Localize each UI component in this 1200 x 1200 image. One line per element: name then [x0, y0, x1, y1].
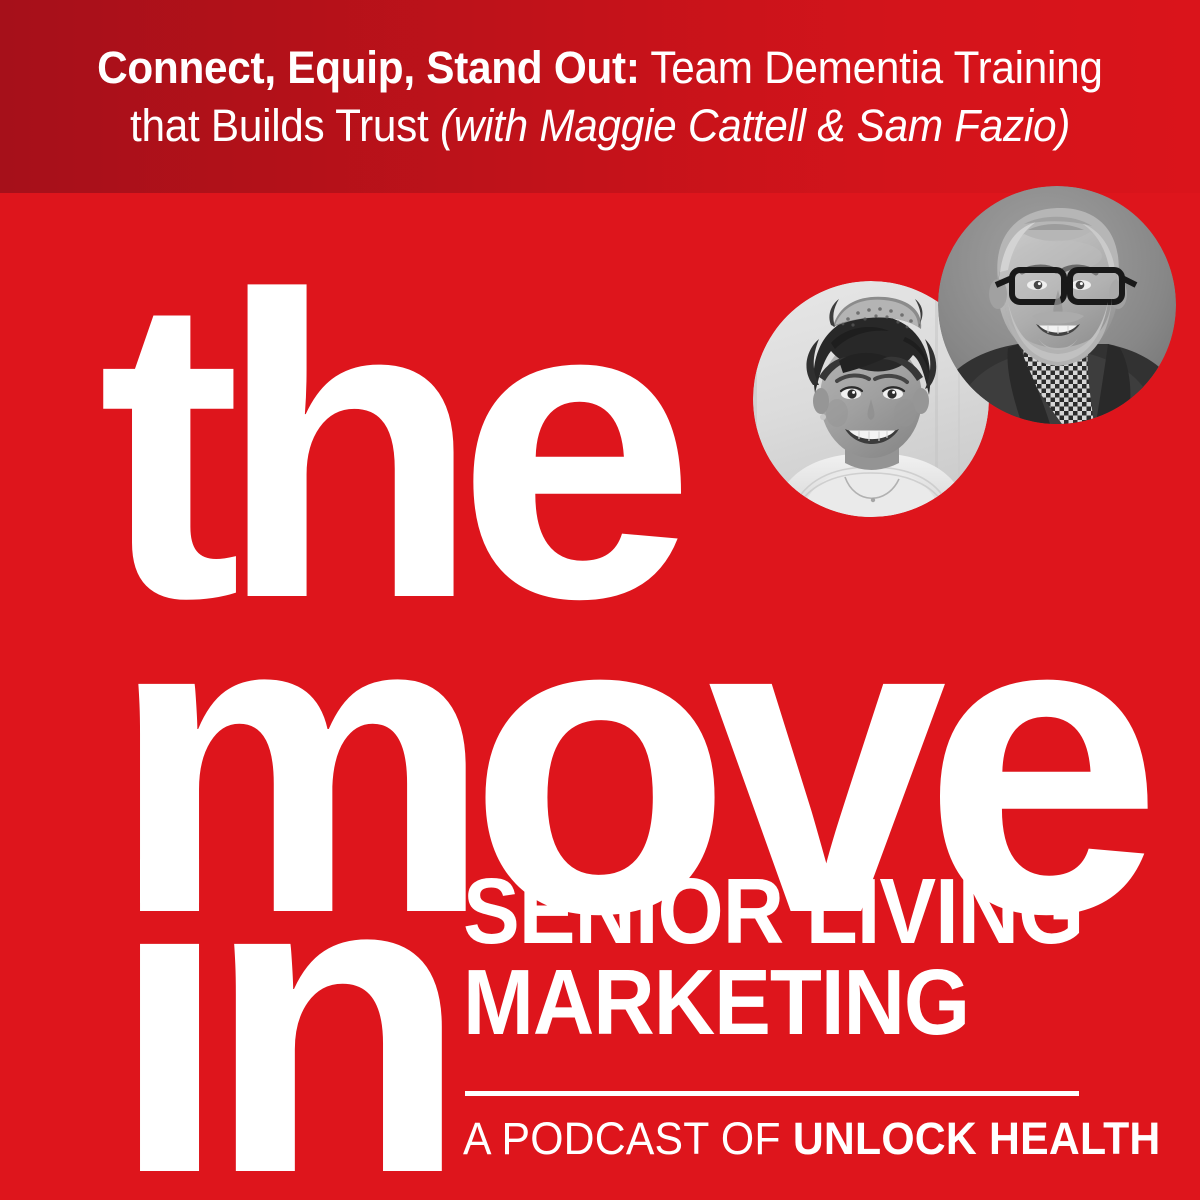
- footer-network-credit: A PODCAST OF UNLOCK HEALTH: [463, 1114, 1161, 1164]
- episode-guest-credit: (with Maggie Cattell & Sam Fazio): [440, 100, 1070, 151]
- logo-word-in: in: [110, 808, 445, 1200]
- guest-portrait-sam-fazio: [938, 186, 1176, 424]
- episode-title-topic: Team Dementia Training: [640, 42, 1103, 93]
- episode-title-hook: Connect, Equip, Stand Out:: [97, 42, 640, 93]
- episode-title-topic-cont: that Builds Trust: [130, 100, 440, 151]
- footer-divider-rule: [465, 1091, 1079, 1096]
- episode-title-line-2: that Builds Trust (with Maggie Cattell &…: [130, 97, 1070, 155]
- footer-prefix: A PODCAST OF: [463, 1113, 793, 1164]
- podcast-cover-art: Connect, Equip, Stand Out: Team Dementia…: [0, 0, 1200, 1200]
- subtitle-line-senior-living: SENIOR LIVING: [463, 866, 1104, 957]
- footer-brand-unlock-health: UNLOCK HEALTH: [793, 1113, 1161, 1164]
- episode-title-block: Connect, Equip, Stand Out: Team Dementia…: [0, 0, 1200, 193]
- podcast-subtitle: SENIOR LIVING MARKETING: [463, 866, 1163, 1048]
- episode-title-line-1: Connect, Equip, Stand Out: Team Dementia…: [97, 39, 1103, 97]
- subtitle-line-marketing: MARKETING: [463, 957, 1104, 1048]
